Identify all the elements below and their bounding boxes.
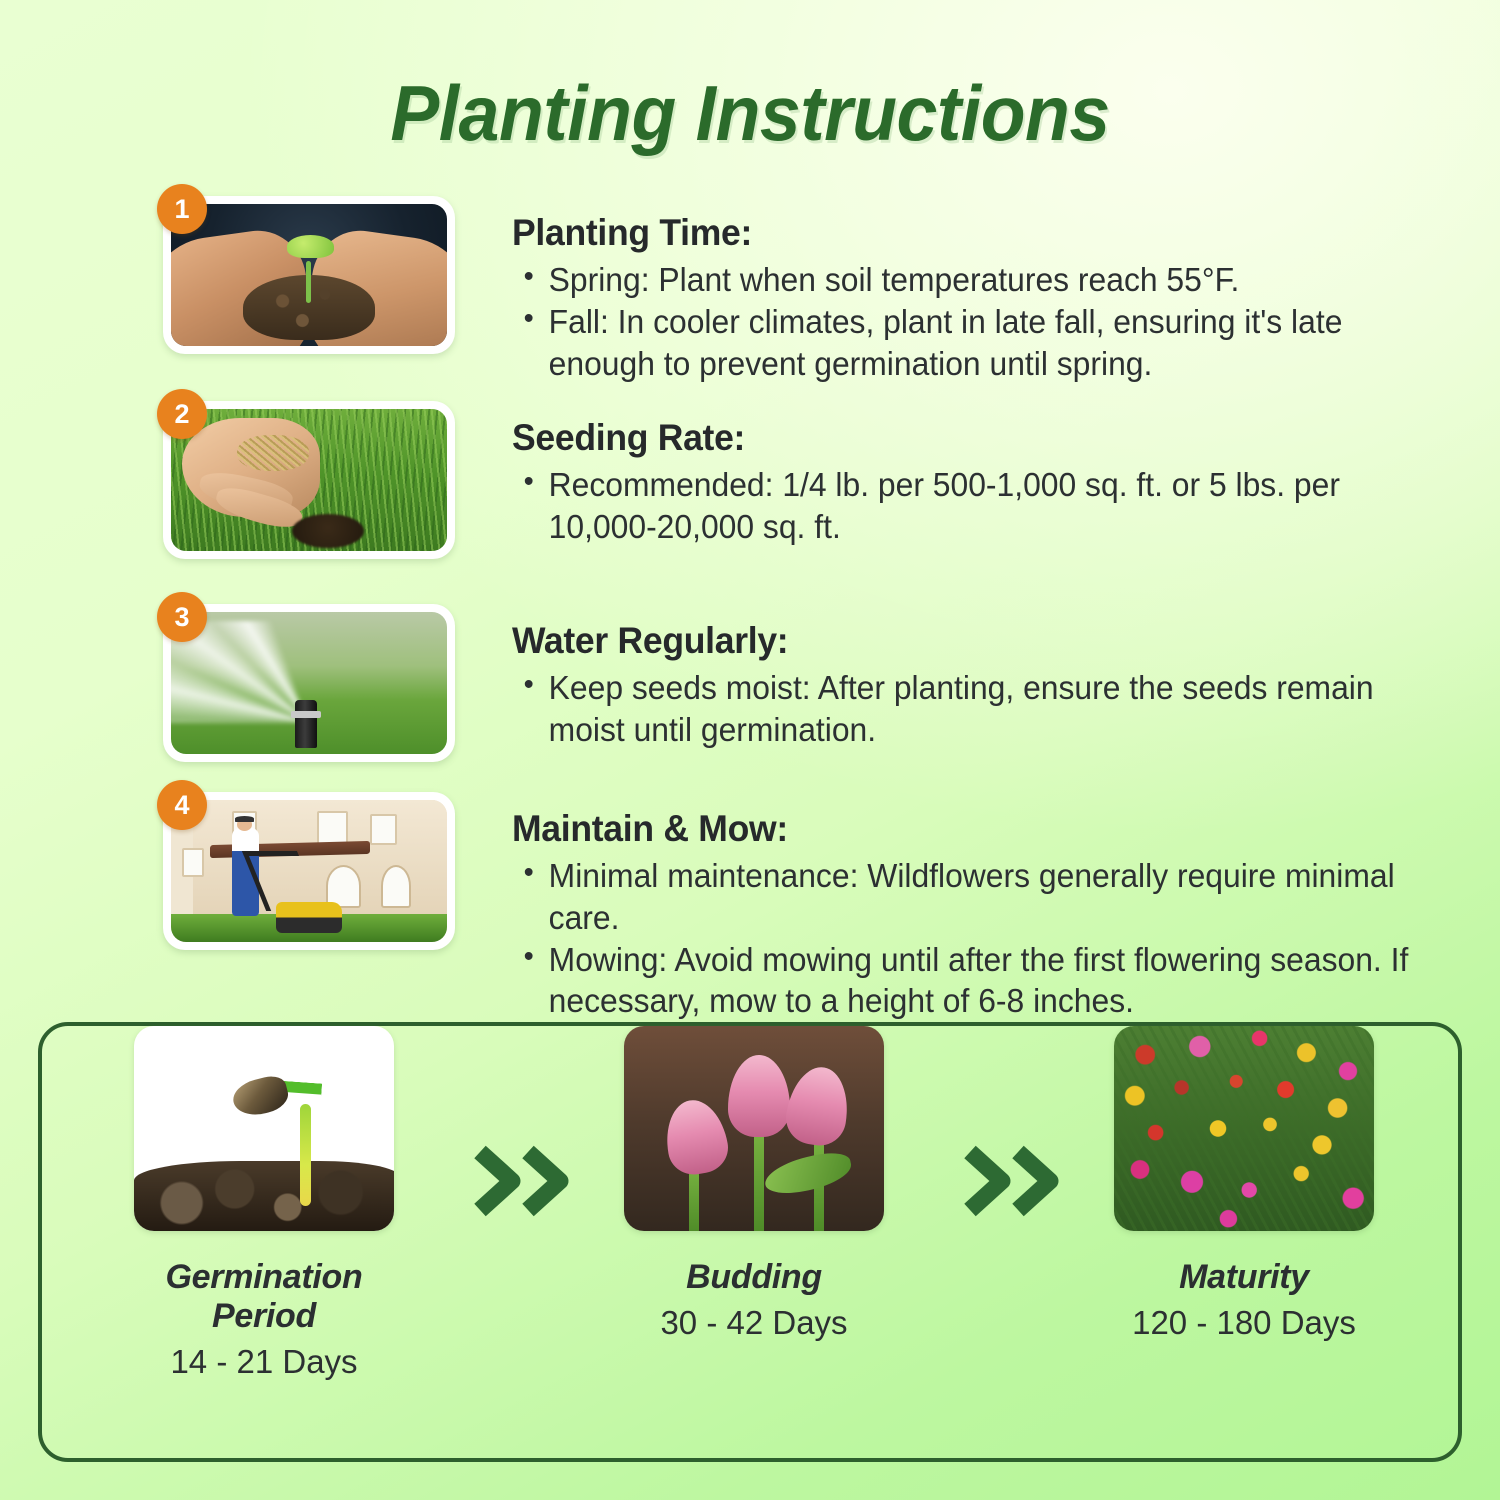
- page-title: Planting Instructions: [45, 74, 1455, 152]
- thumbnail-frame: [163, 792, 455, 950]
- stage-duration: 30 - 42 Days: [604, 1304, 904, 1342]
- mixed-wildflower-meadow-photo: [1114, 1026, 1374, 1231]
- germinating-seed-sprout-photo: [134, 1026, 394, 1231]
- step-number-badge-4: 4: [157, 780, 207, 830]
- double-chevron-right-icon: [962, 1144, 1072, 1218]
- step-1-thumbnail: 1: [163, 196, 455, 354]
- pink-lotus-flower-buds-photo: [624, 1026, 884, 1231]
- timeline-stage-maturity: Maturity 120 - 180 Days: [1094, 1026, 1394, 1342]
- stage-label: Germination Period: [114, 1258, 414, 1336]
- step-1-heading: Planting Time:: [512, 212, 1434, 253]
- step-3-heading: Water Regularly:: [512, 620, 1434, 661]
- infographic-page: Planting Instructions 1 Planting Time:: [0, 0, 1500, 1500]
- hands-holding-sprout-in-soil-photo: [171, 204, 447, 346]
- bullet-item: Minimal maintenance: Wildflowers general…: [512, 855, 1438, 938]
- stage-label: Maturity: [1094, 1258, 1394, 1297]
- bullet-item: Mowing: Avoid mowing until after the fir…: [512, 939, 1438, 1022]
- step-3-text: Water Regularly: Keep seeds moist: After…: [512, 620, 1472, 751]
- timeline-stage-germination: Germination Period 14 - 21 Days: [114, 1026, 414, 1381]
- thumbnail-frame: [163, 604, 455, 762]
- double-chevron-right-icon: [472, 1144, 582, 1218]
- bullet-item: Keep seeds moist: After planting, ensure…: [512, 667, 1438, 750]
- step-1-text: Planting Time: Spring: Plant when soil t…: [512, 212, 1472, 384]
- step-2-thumbnail: 2: [163, 401, 455, 559]
- step-number-badge-1: 1: [157, 184, 207, 234]
- man-mowing-lawn-in-front-of-house-photo: [171, 800, 447, 942]
- lawn-sprinkler-watering-photo: [171, 612, 447, 754]
- step-number-badge-3: 3: [157, 592, 207, 642]
- growth-timeline-panel: Germination Period 14 - 21 Days Bud: [38, 1022, 1462, 1462]
- step-4-bullets: Minimal maintenance: Wildflowers general…: [512, 855, 1472, 1021]
- bullet-item: Recommended: 1/4 lb. per 500-1,000 sq. f…: [512, 464, 1438, 547]
- stage-duration: 120 - 180 Days: [1094, 1304, 1394, 1342]
- step-4-heading: Maintain & Mow:: [512, 808, 1434, 849]
- step-3-thumbnail: 3: [163, 604, 455, 762]
- hand-sowing-seeds-on-grass-photo: [171, 409, 447, 551]
- timeline-stage-budding: Budding 30 - 42 Days: [604, 1026, 904, 1342]
- bullet-item: Fall: In cooler climates, plant in late …: [512, 301, 1438, 384]
- stage-duration: 14 - 21 Days: [114, 1343, 414, 1381]
- step-2-heading: Seeding Rate:: [512, 417, 1434, 458]
- timeline-row: Germination Period 14 - 21 Days Bud: [42, 1026, 1458, 1466]
- step-4-thumbnail: 4: [163, 792, 455, 950]
- step-1-bullets: Spring: Plant when soil temperatures rea…: [512, 259, 1472, 384]
- bullet-item: Spring: Plant when soil temperatures rea…: [512, 259, 1438, 301]
- step-2-text: Seeding Rate: Recommended: 1/4 lb. per 5…: [512, 417, 1472, 548]
- step-4-text: Maintain & Mow: Minimal maintenance: Wil…: [512, 808, 1472, 1022]
- step-3-bullets: Keep seeds moist: After planting, ensure…: [512, 667, 1472, 750]
- thumbnail-frame: [163, 401, 455, 559]
- thumbnail-frame: [163, 196, 455, 354]
- stage-label: Budding: [604, 1258, 904, 1297]
- step-number-badge-2: 2: [157, 389, 207, 439]
- step-2-bullets: Recommended: 1/4 lb. per 500-1,000 sq. f…: [512, 464, 1472, 547]
